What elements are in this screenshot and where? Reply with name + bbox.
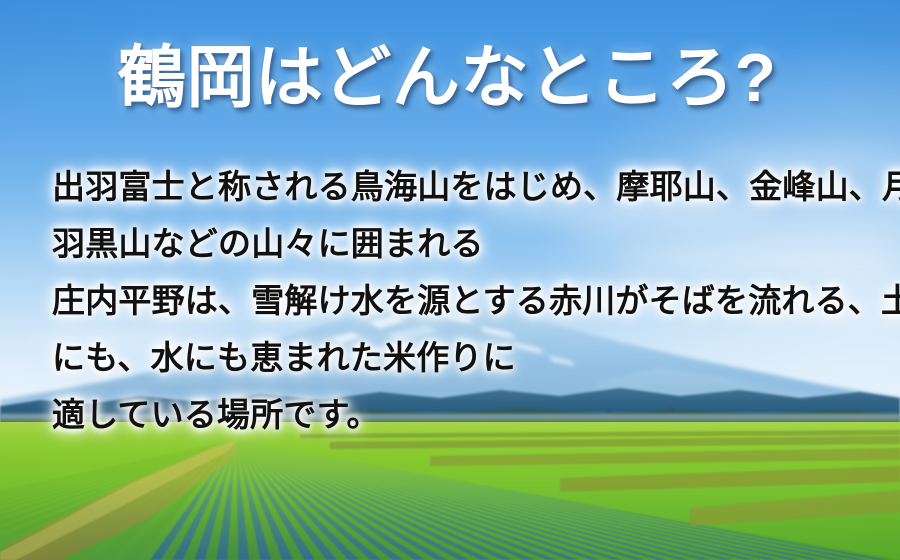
body-line: 庄内平野は、雪解け水を源とする赤川がそばを流れる、土地: [52, 272, 864, 329]
body-paragraph: 出羽富士と称される鳥海山をはじめ、摩耶山、金峰山、月山、 羽黒山などの山々に囲ま…: [52, 158, 864, 443]
body-line: 適している場所です。: [52, 386, 864, 443]
page-title: 鶴岡はどんなところ?: [118, 42, 777, 115]
body-line: にも、水にも恵まれた米作りに: [52, 329, 864, 386]
body-line: 出羽富士と称される鳥海山をはじめ、摩耶山、金峰山、月山、: [52, 158, 864, 215]
body-line: 羽黒山などの山々に囲まれる: [52, 215, 864, 272]
banner-image: 鶴岡はどんなところ? 出羽富士と称される鳥海山をはじめ、摩耶山、金峰山、月山、 …: [0, 0, 900, 560]
